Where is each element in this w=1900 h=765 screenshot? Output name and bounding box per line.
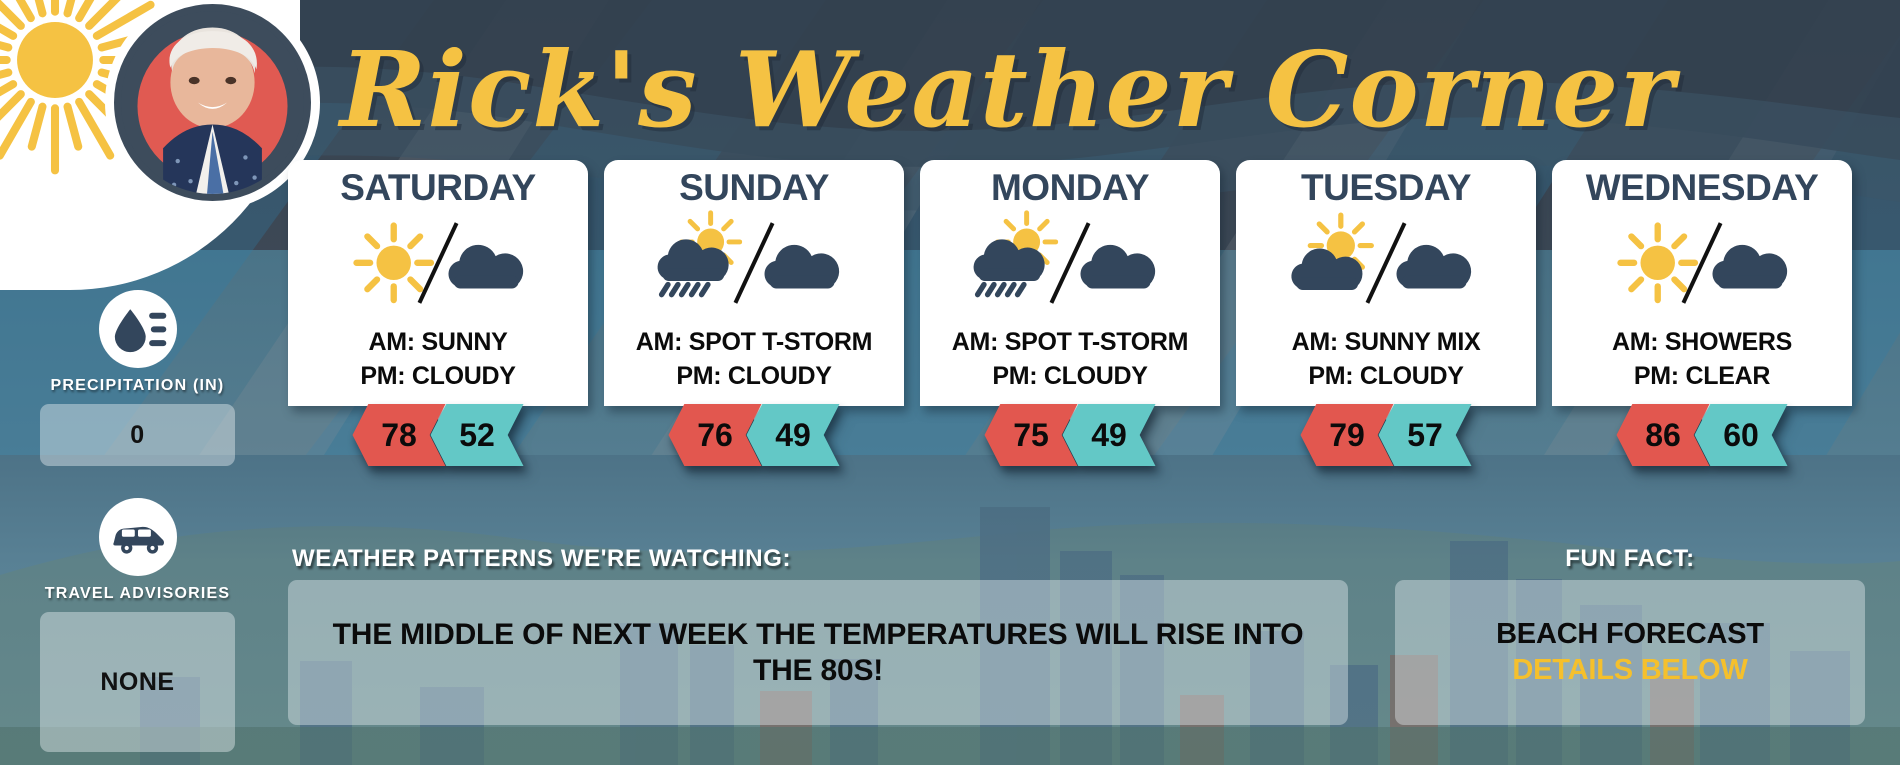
forecast-card-monday[interactable]: MONDAYAM: SPOT T-STORMPM: CLOUDY7549 <box>920 160 1220 460</box>
temperature-badges: 7549 <box>985 404 1156 466</box>
condition-pm: PM: CLOUDY <box>992 360 1147 394</box>
travel-advisories-label: TRAVEL ADVISORIES <box>40 585 235 603</box>
temperature-badges: 7957 <box>1301 404 1472 466</box>
raindrop-icon <box>99 290 177 368</box>
low-temperature: 52 <box>431 404 524 466</box>
low-temperature: 60 <box>1695 404 1788 466</box>
condition-pm: PM: CLOUDY <box>1308 360 1463 394</box>
weather-icons <box>288 204 588 322</box>
condition-am: AM: SPOT T-STORM <box>636 326 872 360</box>
forecast-card-sunday[interactable]: SUNDAYAM: SPOT T-STORMPM: CLOUDY7649 <box>604 160 904 460</box>
forecast-card-wednesday[interactable]: WEDNESDAYAM: SHOWERSPM: CLEAR8660 <box>1552 160 1852 460</box>
forecast-card-saturday[interactable]: SATURDAYAM: SUNNYPM: CLOUDY7852 <box>288 160 588 460</box>
cloud-icon <box>426 206 544 321</box>
weather-patterns-text: THE MIDDLE OF NEXT WEEK THE TEMPERATURES… <box>312 617 1324 688</box>
day-name: TUESDAY <box>1301 169 1471 206</box>
page-title: Rick's Weather Corner <box>340 28 1675 151</box>
day-name: SUNDAY <box>679 169 829 206</box>
weather-icons <box>1236 204 1536 322</box>
low-temperature: 49 <box>1063 404 1156 466</box>
cloud-icon <box>742 206 860 321</box>
day-name: WEDNESDAY <box>1586 169 1819 206</box>
condition-pm: PM: CLEAR <box>1634 360 1770 394</box>
fun-fact-title: FUN FACT: <box>1395 545 1865 573</box>
temperature-badges: 8660 <box>1617 404 1788 466</box>
weather-icons <box>604 204 904 322</box>
condition-am: AM: SPOT T-STORM <box>952 326 1188 360</box>
weather-patterns-box: THE MIDDLE OF NEXT WEEK THE TEMPERATURES… <box>288 580 1348 725</box>
cloud-icon <box>1690 206 1808 321</box>
travel-advisories-value: NONE <box>40 612 235 752</box>
weather-patterns-title: WEATHER PATTERNS WE'RE WATCHING: <box>292 545 1348 573</box>
condition-am: AM: SUNNY MIX <box>1292 326 1481 360</box>
weather-icons <box>1552 204 1852 322</box>
fun-fact-panel: FUN FACT: BEACH FORECAST DETAILS BELOW <box>1395 545 1865 725</box>
condition-pm: PM: CLOUDY <box>360 360 515 394</box>
fun-fact-box: BEACH FORECAST DETAILS BELOW <box>1395 580 1865 725</box>
precipitation-label: PRECIPITATION (IN) <box>40 377 235 395</box>
forecast-card-tuesday[interactable]: TUESDAYAM: SUNNY MIXPM: CLOUDY7957 <box>1236 160 1536 460</box>
day-name: MONDAY <box>991 169 1149 206</box>
weather-icons <box>920 204 1220 322</box>
day-name: SATURDAY <box>340 169 535 206</box>
forecast-cards: SATURDAYAM: SUNNYPM: CLOUDY7852SUNDAYAM:… <box>288 160 1868 460</box>
cloud-icon <box>1374 206 1492 321</box>
fun-fact-line-2: DETAILS BELOW <box>1512 654 1747 687</box>
precipitation-block: PRECIPITATION (IN) 0 <box>40 290 235 466</box>
weather-patterns-panel: WEATHER PATTERNS WE'RE WATCHING: THE MID… <box>288 545 1348 725</box>
precipitation-value: 0 <box>40 404 235 466</box>
low-temperature: 49 <box>747 404 840 466</box>
condition-am: AM: SUNNY <box>369 326 508 360</box>
condition-am: AM: SHOWERS <box>1612 326 1792 360</box>
temperature-badges: 7852 <box>353 404 524 466</box>
car-icon <box>99 498 177 576</box>
travel-advisories-block: TRAVEL ADVISORIES NONE <box>40 498 235 752</box>
low-temperature: 57 <box>1379 404 1472 466</box>
cloud-icon <box>1058 206 1176 321</box>
temperature-badges: 7649 <box>669 404 840 466</box>
fun-fact-line-1: BEACH FORECAST <box>1496 618 1764 651</box>
condition-pm: PM: CLOUDY <box>676 360 831 394</box>
sidebar: PRECIPITATION (IN) 0 TRAVEL ADVISORIES N… <box>40 290 235 752</box>
